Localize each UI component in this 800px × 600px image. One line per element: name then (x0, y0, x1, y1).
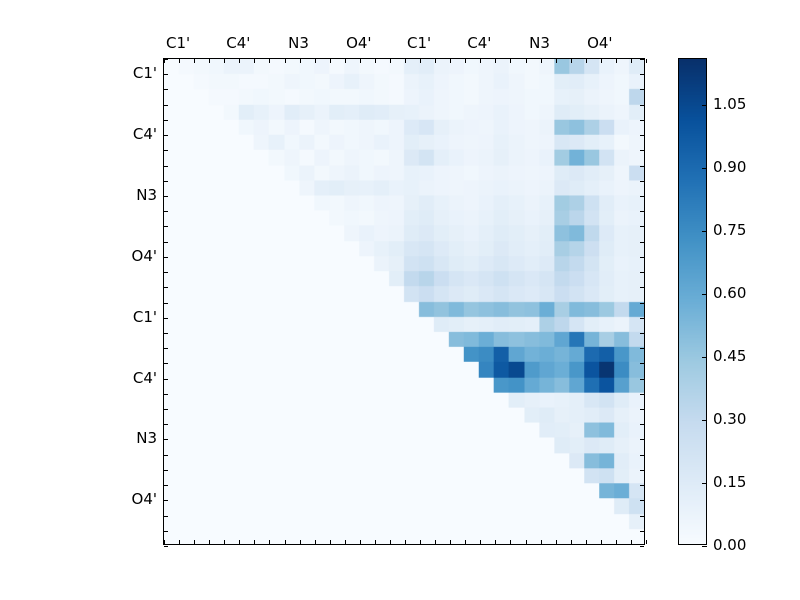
x-tick-label: C4' (467, 34, 491, 52)
tick-mark (269, 59, 270, 63)
tick-mark (465, 59, 466, 63)
tick-mark (640, 257, 644, 258)
tick-mark (164, 89, 168, 90)
tick-mark (315, 540, 316, 544)
tick-mark (164, 318, 168, 319)
tick-mark (510, 540, 511, 544)
tick-mark (640, 287, 644, 288)
y-tick-label: C1' (133, 308, 157, 326)
tick-mark (640, 363, 644, 364)
x-tick-label: C1' (407, 34, 431, 52)
tick-mark (164, 272, 168, 273)
tick-mark (164, 500, 168, 501)
colorbar-tick-label: 0.90 (713, 158, 746, 176)
colorbar-tick-mark (702, 420, 707, 421)
tick-mark (164, 379, 168, 380)
tick-mark (556, 59, 557, 63)
tick-mark (601, 540, 602, 544)
tick-mark (640, 89, 644, 90)
tick-mark (239, 540, 240, 544)
tick-mark (164, 424, 168, 425)
tick-mark (640, 531, 644, 532)
tick-mark (640, 196, 644, 197)
tick-mark (164, 394, 168, 395)
tick-mark (375, 59, 376, 63)
colorbar-gradient (679, 59, 706, 544)
tick-mark (360, 59, 361, 63)
tick-mark (209, 540, 210, 544)
tick-mark (640, 333, 644, 334)
heatmap-axes (163, 58, 645, 545)
tick-mark (330, 59, 331, 63)
tick-mark (571, 540, 572, 544)
figure-canvas: C1'C4'N3O4'C1'C4'N3O4' C1'C4'N3O4'C1'C4'… (0, 0, 800, 600)
x-tick-label: C4' (226, 34, 250, 52)
tick-mark (541, 540, 542, 544)
tick-mark (640, 105, 644, 106)
colorbar-tick-mark (702, 483, 707, 484)
tick-mark (450, 59, 451, 63)
tick-mark (300, 59, 301, 63)
tick-mark (405, 540, 406, 544)
tick-mark (640, 500, 644, 501)
tick-mark (375, 540, 376, 544)
tick-mark (640, 226, 644, 227)
tick-mark (640, 242, 644, 243)
tick-mark (164, 135, 168, 136)
tick-mark (179, 59, 180, 63)
y-tick-label: C4' (133, 369, 157, 387)
tick-mark (640, 470, 644, 471)
tick-mark (164, 363, 168, 364)
tick-mark (640, 166, 644, 167)
tick-mark (164, 74, 168, 75)
colorbar-tick-label: 0.75 (713, 221, 746, 239)
tick-mark (194, 59, 195, 63)
colorbar-tick-mark (702, 294, 707, 295)
tick-mark (640, 439, 644, 440)
tick-mark (390, 540, 391, 544)
tick-mark (254, 59, 255, 63)
tick-mark (640, 59, 644, 60)
colorbar-tick-label: 0.60 (713, 284, 746, 302)
tick-mark (640, 318, 644, 319)
tick-mark (640, 211, 644, 212)
tick-mark (495, 540, 496, 544)
tick-mark (640, 348, 644, 349)
x-tick-label: C1' (166, 34, 190, 52)
tick-mark (164, 531, 168, 532)
y-tick-label: N3 (136, 429, 157, 447)
tick-mark (640, 181, 644, 182)
tick-mark (164, 181, 168, 182)
tick-mark (526, 59, 527, 63)
heatmap-image (164, 59, 644, 544)
tick-mark (209, 59, 210, 63)
tick-mark (556, 540, 557, 544)
tick-mark (586, 540, 587, 544)
y-tick-label: O4' (132, 490, 157, 508)
tick-mark (616, 59, 617, 63)
tick-mark (616, 540, 617, 544)
y-tick-label: C4' (133, 125, 157, 143)
tick-mark (640, 455, 644, 456)
tick-mark (164, 105, 168, 106)
tick-mark (179, 540, 180, 544)
tick-mark (330, 540, 331, 544)
tick-mark (194, 540, 195, 544)
tick-mark (510, 59, 511, 63)
tick-mark (646, 540, 647, 544)
tick-mark (541, 59, 542, 63)
tick-mark (254, 540, 255, 544)
tick-mark (164, 120, 168, 121)
tick-mark (345, 59, 346, 63)
tick-mark (164, 409, 168, 410)
tick-mark (640, 546, 644, 547)
y-tick-label: C1' (133, 64, 157, 82)
tick-mark (480, 540, 481, 544)
tick-mark (164, 470, 168, 471)
y-tick-label: N3 (136, 186, 157, 204)
colorbar-tick-label: 0.45 (713, 347, 746, 365)
tick-mark (390, 59, 391, 63)
colorbar-tick-mark (702, 168, 707, 169)
colorbar-tick-label: 0.30 (713, 410, 746, 428)
tick-mark (631, 59, 632, 63)
tick-mark (640, 379, 644, 380)
x-tick-label: N3 (529, 34, 550, 52)
tick-mark (164, 455, 168, 456)
x-tick-label: O4' (346, 34, 371, 52)
tick-mark (640, 74, 644, 75)
x-tick-label: N3 (288, 34, 309, 52)
tick-mark (239, 59, 240, 63)
tick-mark (640, 150, 644, 151)
colorbar-tick-label: 0.15 (713, 473, 746, 491)
tick-mark (164, 540, 165, 544)
tick-mark (164, 485, 168, 486)
tick-mark (420, 540, 421, 544)
tick-mark (315, 59, 316, 63)
tick-mark (640, 303, 644, 304)
colorbar-tick-label: 0.00 (713, 536, 746, 554)
tick-mark (164, 333, 168, 334)
tick-mark (164, 287, 168, 288)
tick-mark (526, 540, 527, 544)
tick-mark (586, 59, 587, 63)
tick-mark (164, 196, 168, 197)
tick-mark (345, 540, 346, 544)
tick-mark (646, 59, 647, 63)
y-tick-label: O4' (132, 247, 157, 265)
colorbar-tick-mark (702, 105, 707, 106)
tick-mark (164, 242, 168, 243)
tick-mark (435, 59, 436, 63)
tick-mark (224, 59, 225, 63)
tick-mark (465, 540, 466, 544)
x-tick-label: O4' (587, 34, 612, 52)
colorbar-tick-mark (702, 546, 707, 547)
tick-mark (285, 540, 286, 544)
tick-mark (164, 226, 168, 227)
tick-mark (224, 540, 225, 544)
colorbar-tick-mark (702, 357, 707, 358)
tick-mark (640, 272, 644, 273)
tick-mark (631, 540, 632, 544)
tick-mark (640, 394, 644, 395)
tick-mark (640, 409, 644, 410)
tick-mark (164, 546, 168, 547)
tick-mark (269, 540, 270, 544)
tick-mark (164, 516, 168, 517)
tick-mark (300, 540, 301, 544)
tick-mark (164, 150, 168, 151)
tick-mark (164, 59, 168, 60)
colorbar-axes (678, 58, 707, 545)
colorbar-tick-label: 1.05 (713, 95, 746, 113)
tick-mark (640, 485, 644, 486)
tick-mark (164, 348, 168, 349)
tick-mark (285, 59, 286, 63)
tick-mark (640, 135, 644, 136)
tick-mark (420, 59, 421, 63)
tick-mark (164, 257, 168, 258)
tick-mark (450, 540, 451, 544)
tick-mark (405, 59, 406, 63)
colorbar-tick-mark (702, 231, 707, 232)
tick-mark (640, 516, 644, 517)
tick-mark (480, 59, 481, 63)
tick-mark (640, 120, 644, 121)
tick-mark (164, 211, 168, 212)
tick-mark (164, 439, 168, 440)
tick-mark (495, 59, 496, 63)
tick-mark (435, 540, 436, 544)
tick-mark (164, 303, 168, 304)
tick-mark (571, 59, 572, 63)
tick-mark (601, 59, 602, 63)
tick-mark (164, 166, 168, 167)
tick-mark (640, 424, 644, 425)
tick-mark (360, 540, 361, 544)
